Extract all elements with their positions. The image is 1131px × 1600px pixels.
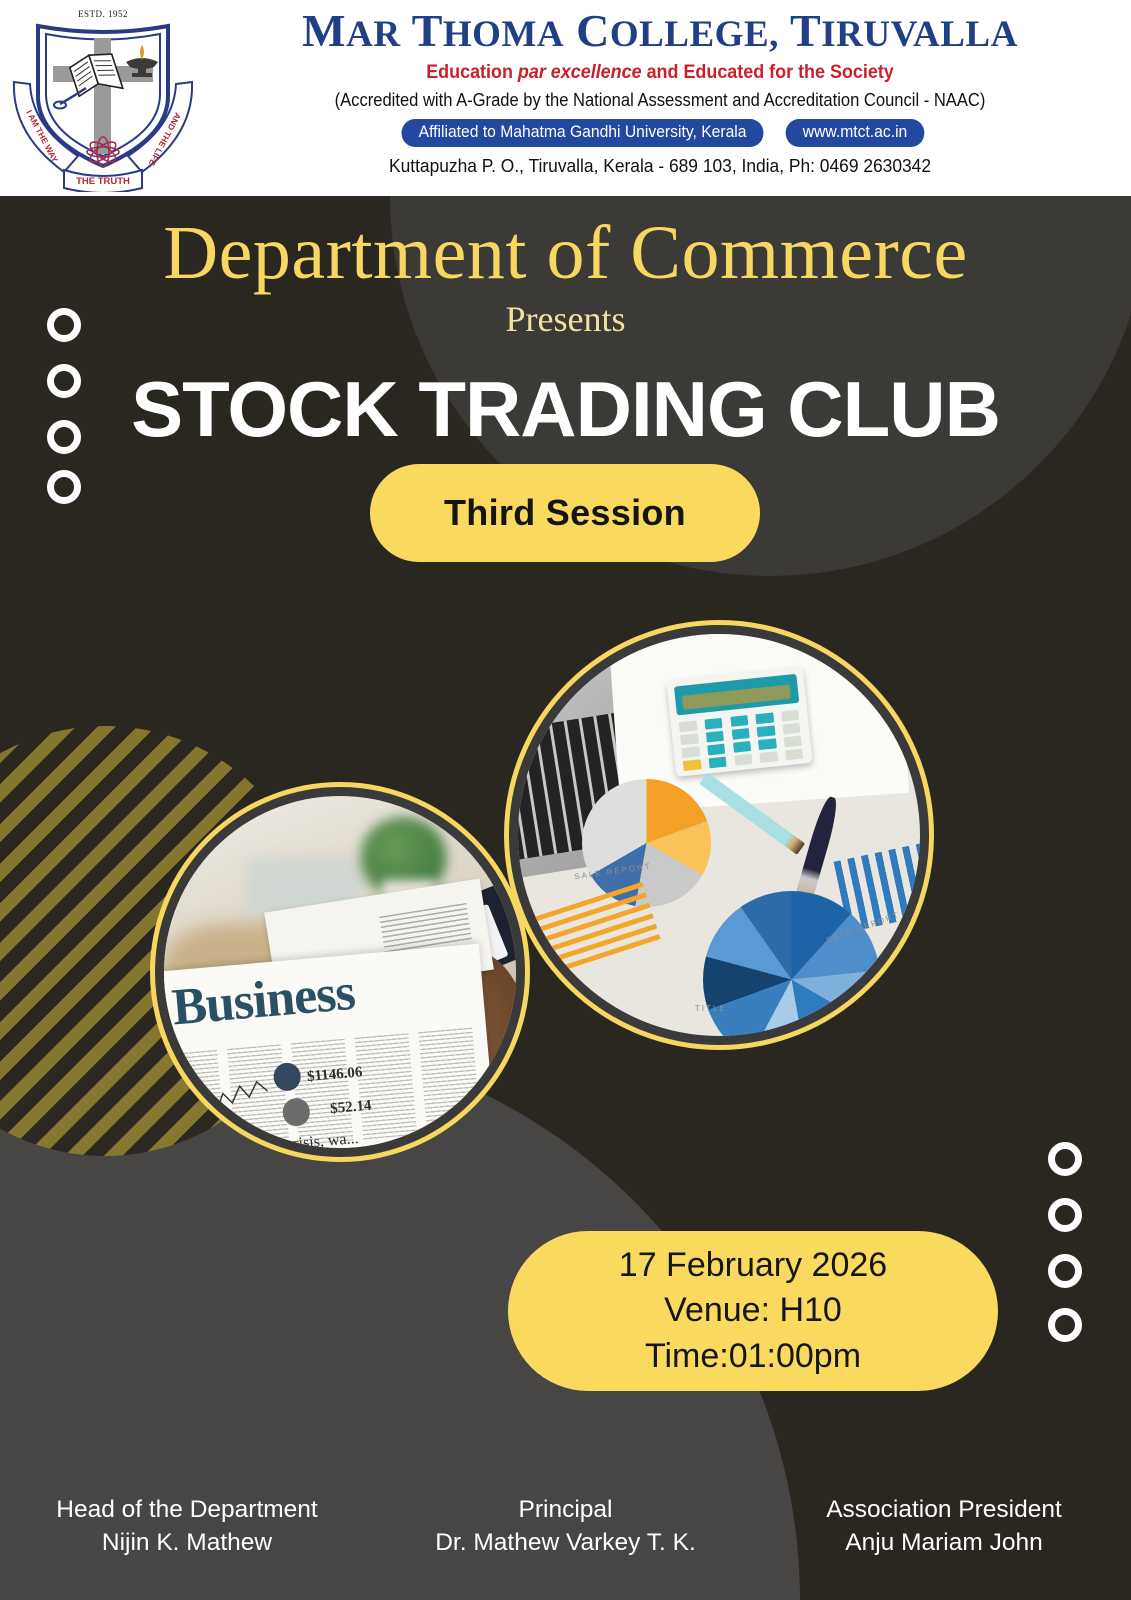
accreditation-line: (Accredited with A-Grade by the National… [237, 90, 1083, 111]
tagline-italic: par excellence [518, 61, 642, 83]
newspaper-masthead: Business [170, 963, 357, 1038]
decor-dot-right-2 [1048, 1198, 1082, 1232]
desk-scene: SALE REPORT SALE REPORT TITLE [518, 634, 920, 1036]
college-tagline: Education par excellence and Educated fo… [237, 61, 1083, 84]
poster-body: Department of Commerce Presents STOCK TR… [0, 196, 1131, 1600]
title-label: TITLE [695, 1004, 727, 1013]
decor-dot-right-3 [1048, 1254, 1082, 1288]
presents-label: Presents [0, 298, 1131, 340]
hod-role: Head of the Department [22, 1494, 352, 1527]
badge-row: Affiliated to Mahatma Gandhi University,… [200, 119, 1120, 147]
session-badge: Third Session [370, 464, 760, 562]
affiliation-badge: Affiliated to Mahatma Gandhi University,… [401, 119, 763, 147]
president-name: Anju Mariam John [779, 1527, 1109, 1560]
orange-bar-chart [527, 882, 662, 980]
signature-hod: Head of the Department Nijin K. Mathew [22, 1494, 352, 1560]
principal-name: Dr. Mathew Varkey T. K. [366, 1527, 766, 1560]
photo-business-newspaper: Business $1146.06 $52.14 new global cris… [150, 782, 530, 1162]
orange-pie-chart [582, 779, 711, 908]
newspaper-front-sheet: Business $1146.06 $52.14 new global cris… [164, 944, 496, 1148]
event-time: Time:01:00pm [645, 1335, 861, 1379]
newspaper-line-chart [192, 1076, 277, 1126]
college-address: Kuttapuzha P. O., Tiruvalla, Kerala - 68… [228, 155, 1093, 177]
calculator-image [666, 667, 812, 777]
tagline-before: Education [426, 61, 518, 83]
event-date: 17 February 2026 [619, 1244, 887, 1288]
department-title: Department of Commerce [0, 210, 1131, 297]
website-badge[interactable]: www.mtct.ac.in [786, 119, 925, 147]
signature-president: Association President Anju Mariam John [779, 1494, 1109, 1560]
letterhead-text-block: MAR THOMA COLLEGE, TIRUVALLA Education p… [200, 6, 1120, 177]
crest-estd-text: ESTD. 1952 [78, 9, 128, 19]
signature-principal: Principal Dr. Mathew Varkey T. K. [366, 1494, 766, 1560]
tagline-after: and Educated for the Society [642, 61, 894, 83]
event-venue: Venue: H10 [664, 1289, 842, 1333]
college-letterhead: ESTD. 1952 [0, 0, 1131, 196]
decor-dot-right-1 [1048, 1142, 1082, 1176]
photo-desk-charts: SALE REPORT SALE REPORT TITLE [504, 620, 934, 1050]
decor-dot-right-4 [1048, 1308, 1082, 1342]
session-label: Third Session [444, 492, 686, 534]
event-title: STOCK TRADING CLUB [0, 364, 1131, 455]
college-name: MAR THOMA COLLEGE, TIRUVALLA [200, 6, 1120, 56]
newspaper-scene: Business $1146.06 $52.14 new global cris… [164, 796, 516, 1148]
event-details-card: 17 February 2026 Venue: H10 Time:01:00pm [508, 1231, 998, 1391]
crest-motto-bottom: THE TRUTH [76, 176, 130, 187]
signature-row: Head of the Department Nijin K. Mathew P… [0, 1494, 1131, 1560]
president-role: Association President [779, 1494, 1109, 1527]
hod-name: Nijin K. Mathew [22, 1527, 352, 1560]
newspaper-price-2: $52.14 [330, 1097, 373, 1118]
principal-role: Principal [366, 1494, 766, 1527]
college-crest-logo: ESTD. 1952 [8, 4, 198, 192]
event-poster: ESTD. 1952 [0, 0, 1131, 1600]
decor-dot-left-4 [47, 470, 81, 504]
